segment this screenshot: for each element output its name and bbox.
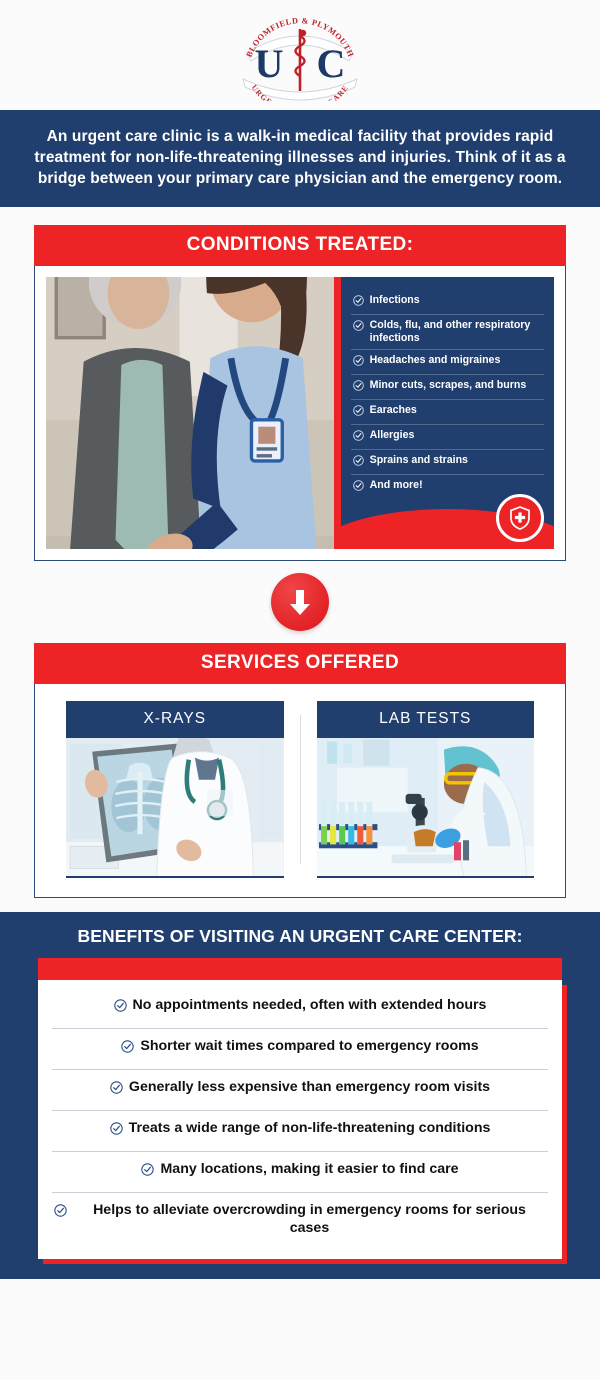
check-circle-icon	[353, 380, 364, 395]
list-item: Earaches	[351, 399, 544, 424]
list-item: Minor cuts, scrapes, and burns	[351, 374, 544, 399]
list-item-label: Sprains and strains	[370, 454, 468, 470]
logo-top-arc-text: BLOOMFIELD & PLYMOUTH	[375, 9, 376, 10]
list-item: Infections	[351, 290, 544, 314]
conditions-list: Infections Colds, flu, and other respira…	[341, 277, 554, 549]
benefits-red-bar	[38, 958, 562, 980]
list-item: No appointments needed, often with exten…	[52, 988, 548, 1028]
logo-bottom-banner-text: URGENT MEDICAL CARE	[375, 9, 376, 10]
svg-text:U: U	[255, 41, 284, 86]
benefits-section: BENEFITS OF VISITING AN URGENT CARE CENT…	[0, 912, 600, 1279]
check-circle-icon	[114, 999, 127, 1018]
list-item-label: Shorter wait times compared to emergency…	[140, 1038, 478, 1056]
list-item-label: Helps to alleviate overcrowding in emerg…	[73, 1202, 546, 1238]
svg-text:C: C	[317, 41, 346, 86]
check-circle-icon	[353, 430, 364, 445]
clinic-logo: BLOOMFIELD & PLYMOUTH U C URGENT MEDICAL…	[225, 9, 375, 101]
conditions-accent-strip	[334, 277, 341, 549]
services-section: SERVICES OFFERED X-RAYS	[0, 643, 600, 898]
list-item-label: Minor cuts, scrapes, and burns	[370, 379, 527, 395]
infographic-page: BLOOMFIELD & PLYMOUTH U C URGENT MEDICAL…	[0, 0, 600, 1380]
services-heading: SERVICES OFFERED	[34, 643, 566, 684]
check-circle-icon	[353, 355, 364, 370]
service-card-label: X-RAYS	[66, 701, 284, 738]
list-item: Colds, flu, and other respiratory infect…	[351, 314, 544, 349]
check-circle-icon	[110, 1122, 123, 1141]
list-item: Headaches and migraines	[351, 349, 544, 374]
logo-icon: BLOOMFIELD & PLYMOUTH U C URGENT MEDICAL…	[225, 9, 375, 101]
list-item-label: Treats a wide range of non-life-threaten…	[129, 1120, 491, 1138]
list-item: Generally less expensive than emergency …	[52, 1069, 548, 1110]
service-card-lab-tests[interactable]: LAB TESTS	[301, 701, 551, 878]
check-circle-icon	[353, 320, 364, 345]
list-item-label: Earaches	[370, 404, 417, 420]
list-item-label: Allergies	[370, 429, 415, 445]
nurse-and-patient-photo-icon	[46, 277, 334, 549]
list-item: Shorter wait times compared to emergency…	[52, 1028, 548, 1069]
list-item: Sprains and strains	[351, 449, 544, 474]
doctor-holding-xray-photo-icon	[66, 738, 284, 876]
check-circle-icon	[353, 480, 364, 495]
list-item-label: No appointments needed, often with exten…	[133, 997, 487, 1015]
list-item: Treats a wide range of non-life-threaten…	[52, 1110, 548, 1151]
shield-cross-badge	[496, 494, 544, 542]
list-item-label: Infections	[370, 294, 420, 310]
section-arrow	[0, 561, 600, 643]
list-item-label: Colds, flu, and other respiratory infect…	[370, 319, 542, 345]
down-arrow-icon	[271, 573, 329, 631]
xray-photo	[66, 738, 284, 878]
list-item: Many locations, making it easier to find…	[52, 1151, 548, 1192]
shield-icon	[508, 505, 532, 531]
check-circle-icon	[54, 1204, 67, 1223]
list-item-label: Many locations, making it easier to find…	[160, 1161, 458, 1179]
list-item: Helps to alleviate overcrowding in emerg…	[52, 1192, 548, 1248]
logo-monogram-text: UC	[375, 9, 376, 10]
conditions-photo	[46, 277, 334, 549]
lab-technician-microscope-photo-icon	[317, 738, 535, 876]
conditions-body: Infections Colds, flu, and other respira…	[34, 266, 566, 561]
intro-paragraph: An urgent care clinic is a walk-in medic…	[0, 110, 600, 207]
services-body: X-RAYS	[34, 684, 566, 898]
list-item-label: Generally less expensive than emergency …	[129, 1079, 490, 1097]
lab-tests-photo	[317, 738, 535, 878]
service-card-label: LAB TESTS	[317, 701, 535, 738]
benefits-heading: BENEFITS OF VISITING AN URGENT CARE CENT…	[0, 926, 600, 958]
check-circle-icon	[353, 405, 364, 420]
check-circle-icon	[110, 1081, 123, 1100]
check-circle-icon	[121, 1040, 134, 1059]
check-circle-icon	[353, 455, 364, 470]
service-card-xrays[interactable]: X-RAYS	[50, 701, 300, 878]
list-item-label: Headaches and migraines	[370, 354, 501, 370]
check-circle-icon	[353, 295, 364, 310]
benefits-card: No appointments needed, often with exten…	[38, 980, 562, 1259]
conditions-heading: CONDITIONS TREATED:	[34, 225, 566, 266]
list-item-label: And more!	[370, 479, 423, 495]
list-item: Allergies	[351, 424, 544, 449]
check-circle-icon	[141, 1163, 154, 1182]
logo-header: BLOOMFIELD & PLYMOUTH U C URGENT MEDICAL…	[0, 0, 600, 110]
conditions-section: CONDITIONS TREATED:	[0, 207, 600, 561]
